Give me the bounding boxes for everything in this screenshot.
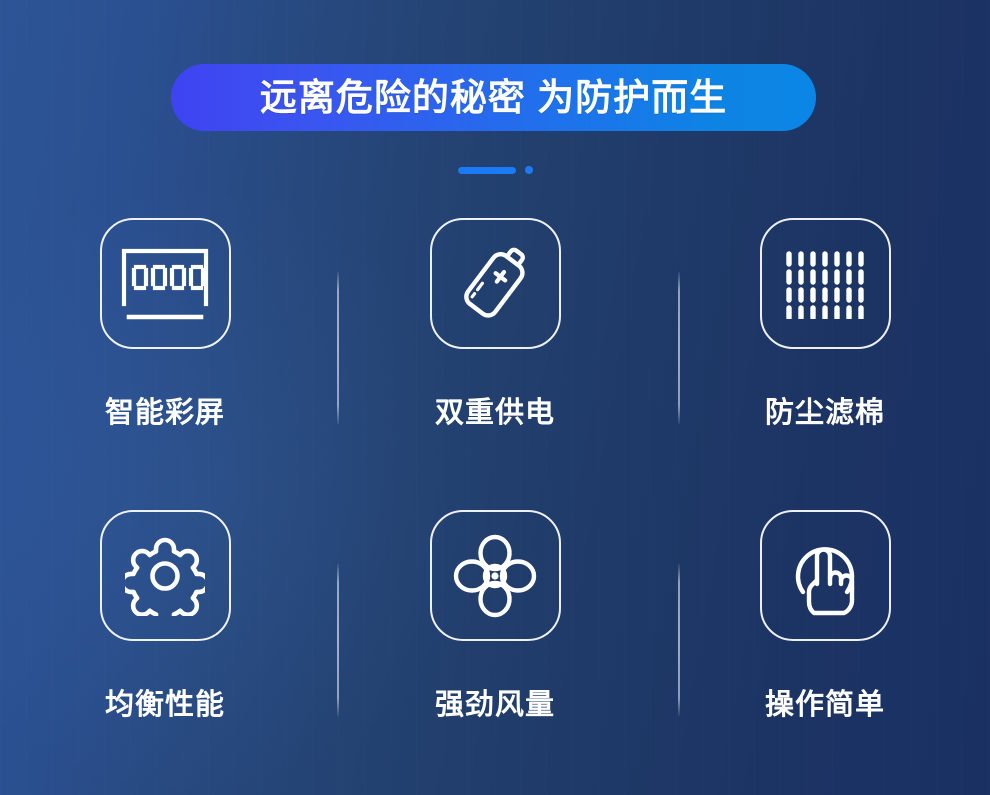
feature-label: 双重供电 <box>435 399 555 428</box>
product-feature-banner: 远离危险的秘密 为防护而生 <box>0 0 990 795</box>
filter-mesh-icon <box>760 218 891 349</box>
column-divider <box>678 272 680 424</box>
feature-item-balanced-performance[interactable]: 均衡性能 <box>0 507 330 777</box>
feature-label: 均衡性能 <box>105 691 225 720</box>
feature-row: 智能彩屏 <box>0 215 990 485</box>
feature-label: 智能彩屏 <box>105 399 225 428</box>
headline-pill: 远离危险的秘密 为防护而生 <box>171 64 816 131</box>
digital-display-icon <box>100 218 231 349</box>
carousel-pagination[interactable] <box>0 163 990 177</box>
fan-icon <box>430 510 561 641</box>
battery-icon <box>430 218 561 349</box>
pagination-active-bar[interactable] <box>458 167 516 174</box>
column-divider <box>337 272 339 424</box>
feature-item-dual-power[interactable]: 双重供电 <box>330 215 660 485</box>
feature-item-dust-filter[interactable]: 防尘滤棉 <box>660 215 990 485</box>
feature-row: 均衡性能 <box>0 507 990 777</box>
feature-item-smart-display[interactable]: 智能彩屏 <box>0 215 330 485</box>
pagination-dot-2[interactable] <box>525 166 533 174</box>
feature-label: 操作简单 <box>765 691 885 720</box>
column-divider <box>337 564 339 716</box>
feature-grid: 智能彩屏 <box>0 215 990 775</box>
gear-icon <box>100 510 231 641</box>
feature-item-simple-operation[interactable]: 操作简单 <box>660 507 990 777</box>
page-title: 远离危险的秘密 为防护而生 <box>260 79 727 116</box>
column-divider <box>678 564 680 716</box>
feature-item-strong-airflow[interactable]: 强劲风量 <box>330 507 660 777</box>
feature-label: 强劲风量 <box>435 691 555 720</box>
feature-label: 防尘滤棉 <box>765 399 885 428</box>
touch-hand-icon <box>760 510 891 641</box>
